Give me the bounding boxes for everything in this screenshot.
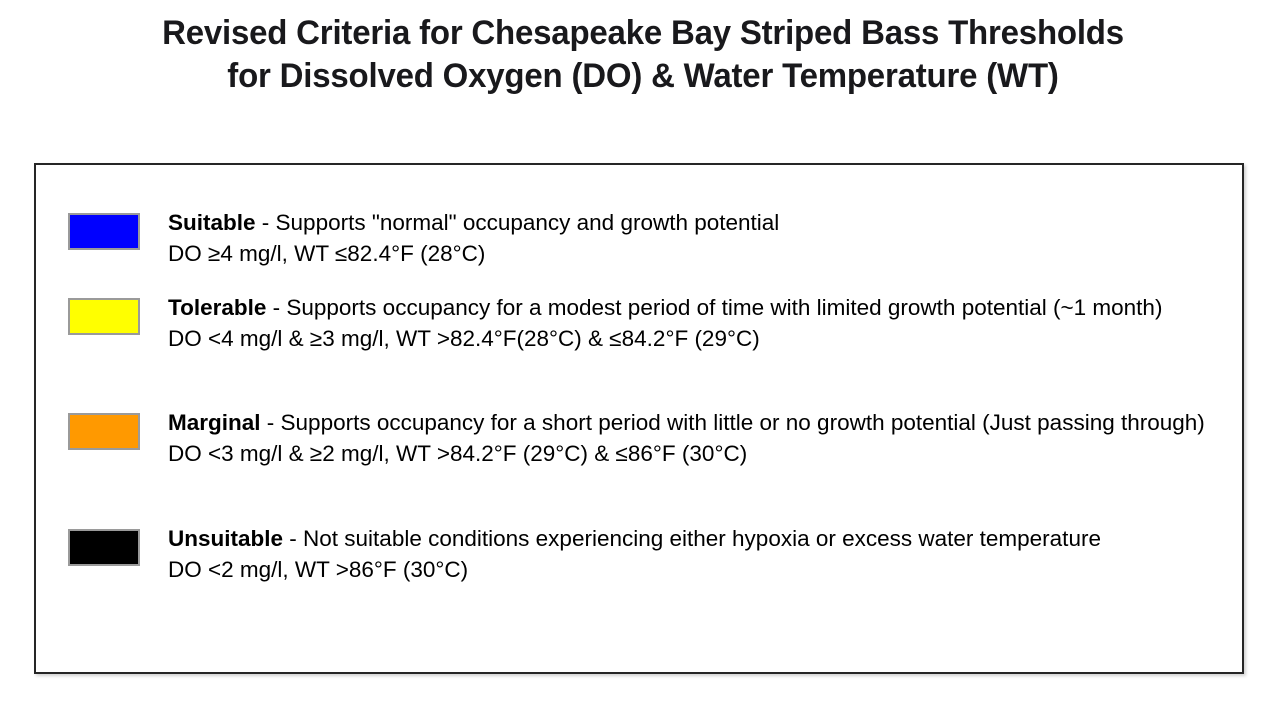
color-swatch-blue bbox=[68, 213, 140, 250]
legend-description: Supports "normal" occupancy and growth p… bbox=[276, 210, 780, 235]
legend-item-text: Suitable - Supports "normal" occupancy a… bbox=[168, 207, 1230, 269]
page-title-line-1: Revised Criteria for Chesapeake Bay Stri… bbox=[19, 12, 1266, 55]
legend-list: Suitable - Supports "normal" occupancy a… bbox=[36, 165, 1242, 672]
legend-description: Not suitable conditions experiencing eit… bbox=[303, 526, 1101, 551]
legend-label: Unsuitable bbox=[168, 526, 283, 551]
legend-label: Marginal bbox=[168, 410, 261, 435]
legend-criteria: DO <4 mg/l & ≥3 mg/l, WT >82.4°F(28°C) &… bbox=[168, 323, 1230, 354]
legend-separator: - bbox=[261, 410, 281, 435]
legend-description: Supports occupancy for a modest period o… bbox=[286, 295, 1162, 320]
legend-criteria: DO <3 mg/l & ≥2 mg/l, WT >84.2°F (29°C) … bbox=[168, 438, 1230, 469]
color-swatch-black bbox=[68, 529, 140, 566]
legend-description: Supports occupancy for a short period wi… bbox=[281, 410, 1205, 435]
legend-separator: - bbox=[266, 295, 286, 320]
legend-item-text: Marginal - Supports occupancy for a shor… bbox=[168, 407, 1230, 469]
color-swatch-yellow bbox=[68, 298, 140, 335]
legend-separator: - bbox=[283, 526, 303, 551]
legend-item-text: Tolerable - Supports occupancy for a mod… bbox=[168, 292, 1230, 354]
color-swatch-orange bbox=[68, 413, 140, 450]
legend-label: Suitable bbox=[168, 210, 256, 235]
legend-criteria: DO ≥4 mg/l, WT ≤82.4°F (28°C) bbox=[168, 238, 1230, 269]
page-title-line-2: for Dissolved Oxygen (DO) & Water Temper… bbox=[19, 55, 1266, 98]
legend-label: Tolerable bbox=[168, 295, 266, 320]
page-title: Revised Criteria for Chesapeake Bay Stri… bbox=[0, 12, 1286, 98]
legend-panel: Suitable - Supports "normal" occupancy a… bbox=[34, 163, 1244, 674]
legend-separator: - bbox=[256, 210, 276, 235]
legend-item-text: Unsuitable - Not suitable conditions exp… bbox=[168, 523, 1230, 585]
legend-criteria: DO <2 mg/l, WT >86°F (30°C) bbox=[168, 554, 1230, 585]
